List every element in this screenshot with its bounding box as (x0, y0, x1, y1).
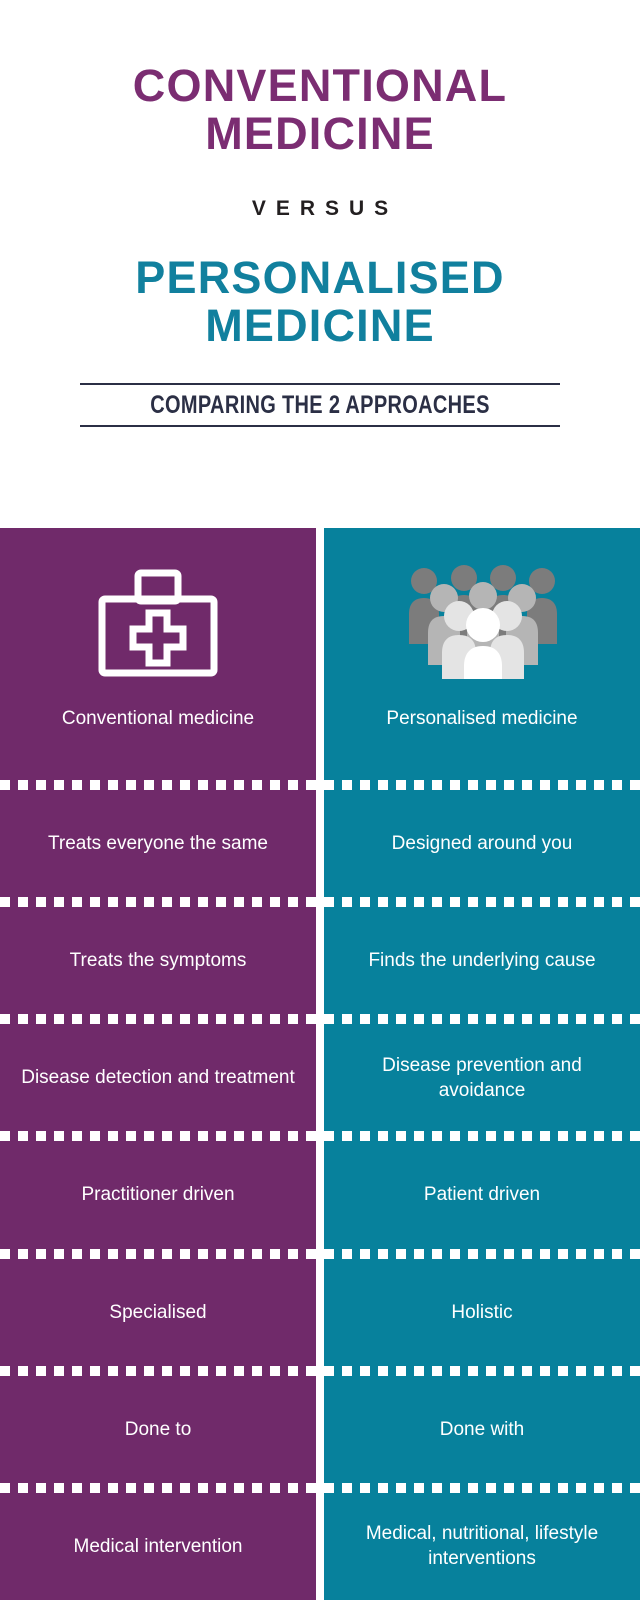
cell-left-1: Treats the symptoms (0, 907, 316, 1014)
cell-text: Specialised (109, 1300, 206, 1325)
column-personalised: Personalised medicine Designed around yo… (324, 528, 640, 1600)
cell-right-2: Disease prevention and avoidance (324, 1024, 640, 1131)
cell-text: Patient driven (424, 1182, 540, 1207)
cell-text: Treats the symptoms (70, 948, 247, 973)
row-divider (324, 897, 640, 907)
comparison-table: Conventional medicine Treats everyone th… (0, 528, 640, 1600)
cell-right-3: Patient driven (324, 1141, 640, 1248)
cell-left-6: Medical intervention (0, 1493, 316, 1600)
cell-text: Disease prevention and avoidance (340, 1053, 624, 1103)
cell-right-4: Holistic (324, 1259, 640, 1366)
cell-text: Disease detection and treatment (21, 1065, 295, 1090)
cell-text: Holistic (451, 1300, 512, 1325)
medical-bag-icon-block (0, 528, 316, 688)
infographic-page: CONVENTIONAL MEDICINE VERSUS PERSONALISE… (0, 0, 640, 1600)
page-title-personalised: PERSONALISED MEDICINE (40, 221, 600, 349)
group-of-people-icon (402, 559, 562, 684)
cell-text: Finds the underlying cause (368, 948, 595, 973)
cell-text: Done with (440, 1417, 525, 1442)
row-divider (324, 1249, 640, 1259)
cell-left-5: Done to (0, 1376, 316, 1483)
cell-left-3: Practitioner driven (0, 1141, 316, 1248)
cell-left-4: Specialised (0, 1259, 316, 1366)
row-divider (0, 1131, 316, 1141)
cell-text: Practitioner driven (81, 1182, 234, 1207)
column-label-personalised: Personalised medicine (324, 688, 640, 780)
versus-label: VERSUS (40, 157, 600, 221)
cell-left-2: Disease detection and treatment (0, 1024, 316, 1131)
page-title-conventional: CONVENTIONAL MEDICINE (40, 0, 600, 157)
row-divider (0, 1483, 316, 1493)
cell-text: Medical, nutritional, lifestyle interven… (340, 1521, 624, 1571)
medical-bag-icon (96, 567, 220, 684)
row-divider (324, 1366, 640, 1376)
cell-left-0: Treats everyone the same (0, 790, 316, 897)
row-divider (0, 1366, 316, 1376)
cell-right-5: Done with (324, 1376, 640, 1483)
subtitle-rule-box: COMPARING THE 2 APPROACHES (80, 383, 560, 427)
row-divider (324, 1014, 640, 1024)
row-divider (324, 1131, 640, 1141)
row-divider (0, 1014, 316, 1024)
row-divider (0, 1249, 316, 1259)
cell-text: Done to (125, 1417, 192, 1442)
cell-text: Medical intervention (74, 1534, 243, 1559)
cell-right-1: Finds the underlying cause (324, 907, 640, 1014)
column-label-conventional: Conventional medicine (0, 688, 316, 780)
cell-right-6: Medical, nutritional, lifestyle interven… (324, 1493, 640, 1600)
page-subtitle: COMPARING THE 2 APPROACHES (128, 391, 512, 420)
row-divider (324, 1483, 640, 1493)
header: CONVENTIONAL MEDICINE VERSUS PERSONALISE… (0, 0, 640, 528)
row-divider (0, 897, 316, 907)
cell-text: Designed around you (392, 831, 573, 856)
column-conventional: Conventional medicine Treats everyone th… (0, 528, 316, 1600)
cell-text: Treats everyone the same (48, 831, 268, 856)
cell-right-0: Designed around you (324, 790, 640, 897)
row-divider (0, 780, 316, 790)
row-divider (324, 780, 640, 790)
group-of-people-icon-block (324, 528, 640, 688)
